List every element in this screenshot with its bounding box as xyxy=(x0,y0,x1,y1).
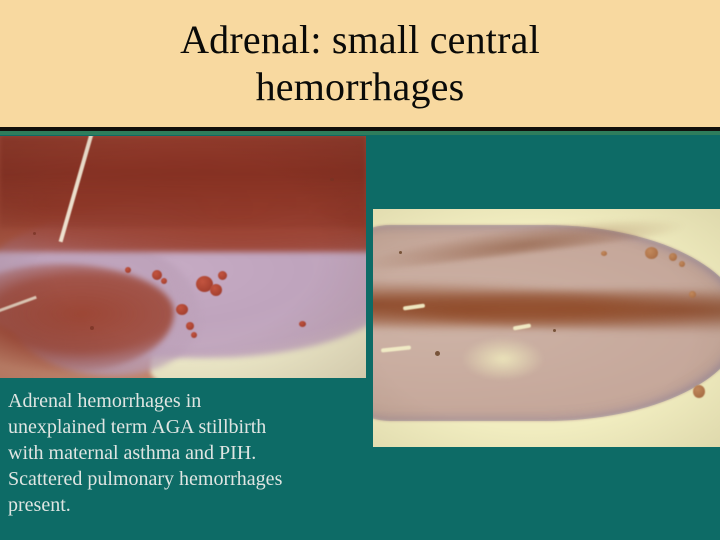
slide: Adrenal: small central hemorrhages xyxy=(0,0,720,540)
left-image-vignette xyxy=(0,136,366,378)
right-image-vignette xyxy=(373,209,720,447)
title-banner: Adrenal: small central hemorrhages xyxy=(0,0,720,127)
adrenal-histology-right-image xyxy=(373,209,720,447)
page-title: Adrenal: small central hemorrhages xyxy=(0,16,720,110)
adrenal-histology-left-image xyxy=(0,136,366,378)
caption-text: Adrenal hemorrhages in unexplained term … xyxy=(8,388,364,518)
